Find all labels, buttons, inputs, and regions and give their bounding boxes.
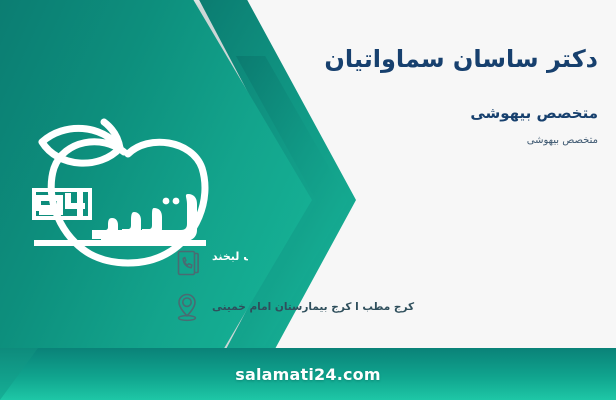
footer-website[interactable]: salamati24.com xyxy=(0,348,616,400)
contact-row-phone[interactable] xyxy=(172,248,602,278)
contact-address-text: کرج مطب ا کرج بیمارستان امام خمینی xyxy=(212,300,414,315)
doctor-specialty-sub: متخصص بیهوشی xyxy=(178,134,598,147)
location-pin-icon xyxy=(172,292,202,322)
doctor-profile-card: به راحتی یک لبخند www.salamati24.com دکت… xyxy=(0,0,616,400)
doctor-name: دکتر ساسان سماواتیان xyxy=(178,44,598,74)
contact-row-address[interactable]: کرج مطب ا کرج بیمارستان امام خمینی xyxy=(172,292,602,322)
doctor-specialty: متخصص بیهوشی xyxy=(178,104,598,124)
phone-book-icon xyxy=(172,248,202,278)
contact-list: کرج مطب ا کرج بیمارستان امام خمینی xyxy=(172,248,602,336)
